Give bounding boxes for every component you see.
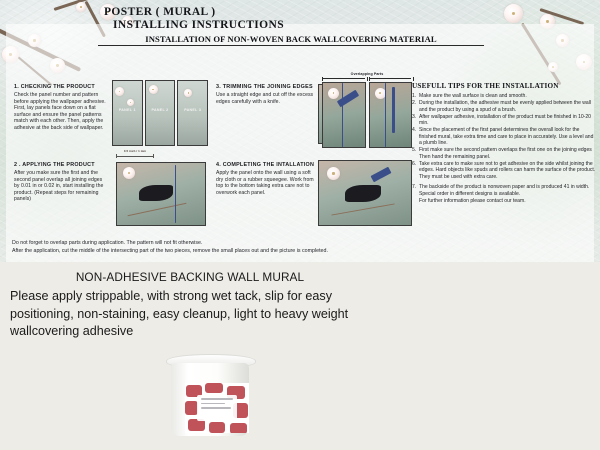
overlap-measure-arrows <box>322 77 412 81</box>
tip-text: During the installation, the adhesive mu… <box>419 100 596 113</box>
tip-text: First make sure the second pattern overl… <box>419 147 596 160</box>
panel-1-label: PANEL 1 <box>119 108 136 112</box>
step-1: 1. CHECKING THE PRODUCT Check the panel … <box>14 84 106 132</box>
step-2-photo <box>116 162 206 226</box>
tip-item: 2. During the installation, the adhesive… <box>412 100 596 113</box>
overlap-photo-right <box>369 82 413 148</box>
step-4-heading: 4. COMPLETING THE INTALLATION <box>216 162 316 168</box>
label-pattern-shape <box>209 422 225 433</box>
tip-item: 4. Since the placement of the first pane… <box>412 127 596 147</box>
panel-preview-group: PANEL 1 PANEL 2 PANEL 3 <box>112 80 208 146</box>
step-2: 2 . APPLYING THE PRODUCT After you make … <box>14 162 108 203</box>
step-3-body: Use a straight edge and cut off the exce… <box>216 92 316 105</box>
overlapping-parts-diagram: Overlapping Parts <box>322 72 412 148</box>
tip-number: 1. <box>412 93 419 100</box>
panel-3-thumbnail: PANEL 3 <box>177 80 208 146</box>
bucket-body <box>171 363 249 436</box>
step-1-heading: 1. CHECKING THE PRODUCT <box>14 84 106 90</box>
label-pattern-shape <box>230 423 247 433</box>
promo-text-block: NON-ADHESIVE BACKING WALL MURAL Please a… <box>10 270 370 341</box>
twig-decoration <box>128 203 187 216</box>
tip-item: 7. The backside of the product is nonwov… <box>412 184 596 191</box>
tip-number: 7. <box>412 184 419 191</box>
tip-text: Since the placement of the first panel d… <box>419 127 596 147</box>
blossom-decoration <box>328 88 339 99</box>
promo-heading: NON-ADHESIVE BACKING WALL MURAL <box>10 270 370 284</box>
tip-text: The backside of the product is nonwoven … <box>419 184 596 191</box>
footnote-2: After the application, cut the middle of… <box>12 248 572 256</box>
tips-closing-line-1: Special order in different designs is av… <box>419 191 596 198</box>
dimension-line <box>116 154 154 158</box>
overlap-photo-pair <box>322 82 412 148</box>
tips-closing-line-2: For further information please contact o… <box>419 198 596 205</box>
blossom-decoration <box>123 167 135 179</box>
tip-number: 5. <box>412 147 419 160</box>
seam-line-indicator <box>385 83 386 147</box>
tip-number: 3. <box>412 114 419 127</box>
panel-2-label: PANEL 2 <box>152 108 169 112</box>
blossom-decoration <box>327 167 340 180</box>
adhesive-bucket-image <box>164 354 256 440</box>
step-4-photo <box>318 160 412 226</box>
tip-item: 1. Make sure the wall surface is clean a… <box>412 93 596 100</box>
tip-item: 6. Take extra care to make sure not to g… <box>412 161 596 181</box>
bird-decoration <box>345 185 381 202</box>
blossom-decoration <box>149 85 158 94</box>
bird-decoration <box>139 185 173 201</box>
seam-line-indicator <box>175 165 176 223</box>
panel-1-thumbnail: PANEL 1 <box>112 80 143 146</box>
blossom-decoration <box>127 99 134 106</box>
label-pattern-shape <box>205 383 223 393</box>
twig-decoration <box>331 203 394 215</box>
label-text-line <box>201 403 225 405</box>
overlap-label: Overlapping Parts <box>322 72 412 76</box>
bird-decoration <box>178 81 191 89</box>
step-1-body: Check the panel number and pattern befor… <box>14 92 106 132</box>
tip-number: 4. <box>412 127 419 147</box>
label-text-block <box>197 395 237 421</box>
tip-text: After wallpaper adhesive, installation o… <box>419 114 596 127</box>
bucket-label <box>185 383 249 433</box>
blossom-decoration <box>115 87 124 96</box>
poster-page: POSTER ( MURAL ) INSTALLING INSTRUCTIONS… <box>0 0 600 450</box>
tip-text: Make sure the wall surface is clean and … <box>419 93 596 100</box>
step-2-heading: 2 . APPLYING THE PRODUCT <box>14 162 108 168</box>
step-4: 4. COMPLETING THE INTALLATION Apply the … <box>216 162 316 196</box>
panel-2-thumbnail: PANEL 2 <box>145 80 176 146</box>
step-3-heading: 3. TRIMMING THE JOINING EDGES <box>216 84 316 90</box>
blossom-decoration <box>184 89 192 97</box>
tip-text: Take extra care to make sure not to get … <box>419 161 596 181</box>
promo-band: NON-ADHESIVE BACKING WALL MURAL Please a… <box>0 262 600 450</box>
seam-line-indicator <box>342 83 343 147</box>
tip-item: 3. After wallpaper adhesive, installatio… <box>412 114 596 127</box>
label-text-line <box>201 407 231 409</box>
useful-tips-section: USEFULL TIPS FOR THE INSTALLATION 1. Mak… <box>412 82 596 204</box>
promo-body: Please apply strippable, with strong wet… <box>10 288 370 341</box>
step-3: 3. TRIMMING THE JOINING EDGES Use a stra… <box>216 84 316 105</box>
tip-number: 6. <box>412 161 419 181</box>
measure-arrow-right <box>369 77 413 81</box>
tip-item: 5. First make sure the second pattern ov… <box>412 147 596 160</box>
step-2-body: After you make sure the first and the se… <box>14 170 108 203</box>
blossom-decoration <box>375 88 386 99</box>
squeegee-tool-icon <box>371 167 392 183</box>
panel-dimension-indicator: 0.5 inch / 1 mm <box>116 149 154 157</box>
overlap-photo-left <box>322 82 366 148</box>
measure-arrow-left <box>322 77 366 81</box>
step-4-body: Apply the panel onto the wall using a so… <box>216 170 316 196</box>
label-text-line <box>201 398 233 400</box>
tip-number: 2. <box>412 100 419 113</box>
footnote-1: Do not forget to overlap parts during ap… <box>12 240 572 248</box>
tips-heading: USEFULL TIPS FOR THE INSTALLATION <box>412 82 596 90</box>
straight-edge-icon <box>392 87 395 133</box>
footnotes: Do not forget to overlap parts during ap… <box>12 240 572 255</box>
panel-dimension-label: 0.5 inch / 1 mm <box>116 149 154 153</box>
panel-3-label: PANEL 3 <box>184 108 201 112</box>
